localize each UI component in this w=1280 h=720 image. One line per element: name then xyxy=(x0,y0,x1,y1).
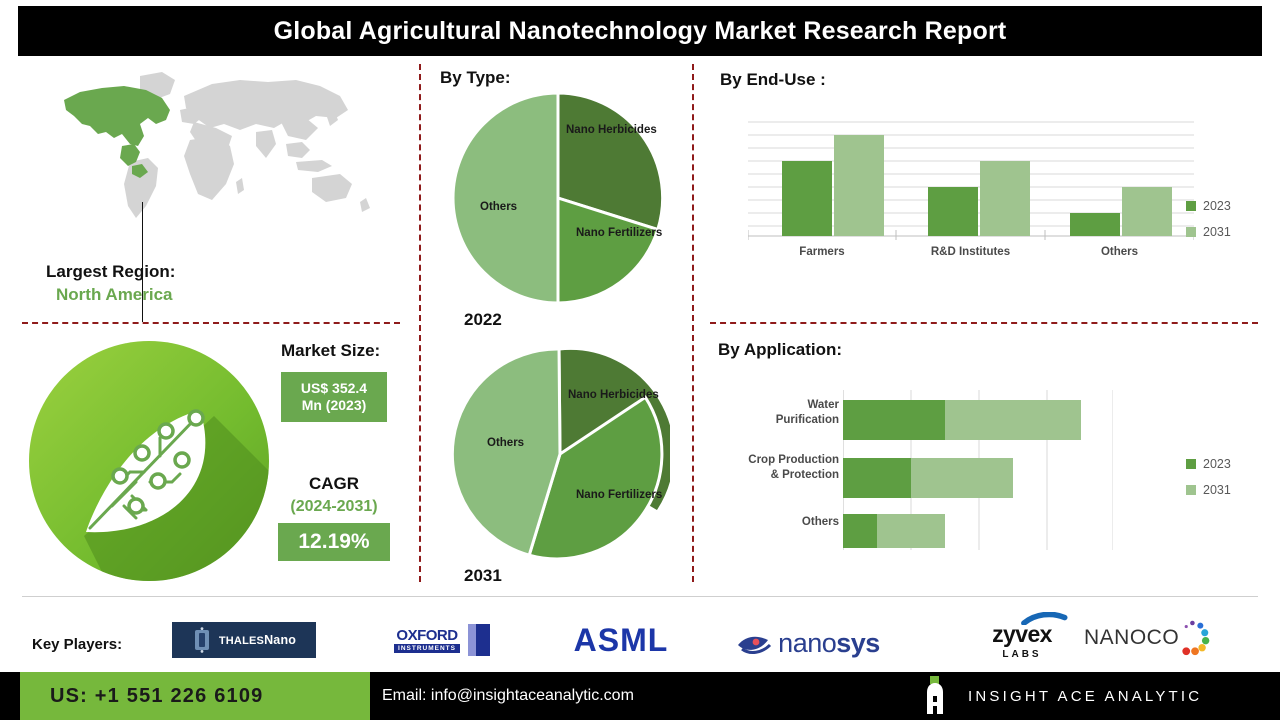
market-size-title: Market Size: xyxy=(281,341,380,361)
legend-swatch-app-2031 xyxy=(1186,485,1196,495)
end-use-bar-chart xyxy=(748,118,1194,240)
logo-oxford-instruments: OXFORD INSTRUMENTS xyxy=(386,624,490,656)
application-cat-crop: Crop Production& Protection xyxy=(713,453,839,483)
legend-label-2023: 2023 xyxy=(1203,199,1231,213)
bar-app-others-2031 xyxy=(877,514,945,548)
cagr-value: 12.19% xyxy=(278,523,390,561)
pie-2031-label-herbicides: Nano Herbicides xyxy=(568,388,659,402)
logo-nanosys: nanosys xyxy=(730,626,886,660)
largest-region-value: North America xyxy=(56,285,173,305)
divider-horizontal-bottom xyxy=(22,596,1258,597)
divider-vertical-right xyxy=(692,64,694,582)
cagr-years: (2024-2031) xyxy=(272,498,396,516)
pie-2022-label-herbicides: Nano Herbicides xyxy=(566,123,657,137)
bar-rd-2031 xyxy=(980,161,1030,236)
legend-label-2031: 2031 xyxy=(1203,225,1231,239)
key-players-label: Key Players: xyxy=(32,636,122,653)
footer-brand: INSIGHT ACE ANALYTIC xyxy=(968,672,1202,720)
bar-app-others-2023 xyxy=(843,514,877,548)
world-map xyxy=(44,66,384,241)
legend-item-2031: 2031 xyxy=(1186,225,1231,239)
bar-crop-2023 xyxy=(843,458,911,498)
nanosys-mark xyxy=(736,631,776,655)
footer-email: Email: info@insightaceanalytic.com xyxy=(382,672,634,720)
cagr-title: CAGR xyxy=(281,474,387,494)
end-use-cat-others: Others xyxy=(1045,245,1194,260)
logo-nanoco: NANOCO xyxy=(1084,616,1212,660)
footer-phone: US: +1 551 226 6109 xyxy=(50,685,264,708)
legend-swatch-2023 xyxy=(1186,201,1196,211)
divider-horizontal-left xyxy=(22,322,400,324)
pie-2031-label-others: Others xyxy=(487,436,524,450)
end-use-legend: 2023 2031 xyxy=(1186,199,1231,251)
pie-2031-label-fertilizers: Nano Fertilizers xyxy=(576,488,662,502)
pie-2022-label-fertilizers: Nano Fertilizers xyxy=(576,226,662,240)
oxford-text-a: OXFORD xyxy=(396,628,457,643)
pie-2022-year: 2022 xyxy=(464,310,502,330)
zyvex-text-b: LABS xyxy=(1002,649,1041,660)
header-bar: Global Agricultural Nanotechnology Marke… xyxy=(18,6,1262,56)
nanoco-dots xyxy=(1173,616,1212,660)
bar-others-2023 xyxy=(1070,213,1120,236)
bar-water-2031 xyxy=(945,400,1081,440)
legend-label-app-2031: 2031 xyxy=(1203,483,1231,497)
logo-thalesnano: THALESNano xyxy=(172,622,316,658)
bar-crop-2031 xyxy=(911,458,1013,498)
section-title-by-application: By Application: xyxy=(718,340,842,360)
largest-region-label: Largest Region: xyxy=(46,262,175,282)
divider-vertical-left xyxy=(419,64,421,582)
legend-item-app-2031: 2031 xyxy=(1186,483,1231,497)
application-bar-chart xyxy=(843,390,1113,550)
infographic-page: Global Agricultural Nanotechnology Marke… xyxy=(0,0,1280,720)
bar-others-2031 xyxy=(1122,187,1172,236)
logo-zyvex-labs: zyvex LABS xyxy=(966,612,1078,660)
nanosys-text-a: nano xyxy=(778,628,836,658)
end-use-cat-rd: R&D Institutes xyxy=(896,245,1045,260)
insight-ace-logo-icon xyxy=(918,676,952,716)
market-size-value: US$ 352.4 Mn (2023) xyxy=(281,372,387,422)
nanoco-text: NANOCO xyxy=(1084,626,1179,650)
legend-item-2023: 2023 xyxy=(1186,199,1231,213)
oxford-text-b: INSTRUMENTS xyxy=(394,644,460,653)
pie-2031-year: 2031 xyxy=(464,566,502,586)
thalesnano-mark xyxy=(192,627,212,653)
bar-water-2023 xyxy=(843,400,945,440)
logo-asml: ASML xyxy=(565,622,677,658)
leaf-circle-icon xyxy=(24,336,279,586)
footer-phone-block: US: +1 551 226 6109 xyxy=(20,672,370,720)
legend-label-app-2023: 2023 xyxy=(1203,457,1231,471)
market-size-line2: Mn (2023) xyxy=(302,397,367,413)
application-cat-others: Others xyxy=(735,515,839,530)
pie-2022-label-others: Others xyxy=(480,200,517,214)
bar-farmers-2031 xyxy=(834,135,884,236)
section-title-by-type: By Type: xyxy=(440,68,511,88)
divider-horizontal-right xyxy=(710,322,1258,324)
legend-swatch-app-2023 xyxy=(1186,459,1196,469)
legend-swatch-2031 xyxy=(1186,227,1196,237)
application-cat-water: WaterPurification xyxy=(735,398,839,428)
end-use-cat-farmers: Farmers xyxy=(748,245,896,260)
pie-slice-others xyxy=(453,93,558,303)
nanosys-text-b: sys xyxy=(836,628,880,658)
thalesnano-text-a: THALES xyxy=(219,635,264,647)
bar-rd-2023 xyxy=(928,187,978,236)
bar-farmers-2023 xyxy=(782,161,832,236)
thalesnano-text-b: Nano xyxy=(264,633,296,647)
pie-chart-2022 xyxy=(448,88,668,308)
legend-item-app-2023: 2023 xyxy=(1186,457,1231,471)
application-legend: 2023 2031 xyxy=(1186,457,1231,509)
market-size-line1: US$ 352.4 xyxy=(301,380,367,396)
zyvex-text-a: zyvex xyxy=(992,621,1052,648)
section-title-by-end-use: By End-Use : xyxy=(720,70,826,90)
page-title: Global Agricultural Nanotechnology Marke… xyxy=(274,17,1007,46)
asml-text: ASML xyxy=(574,622,669,659)
pie-chart-2031 xyxy=(450,344,670,564)
leaf-logo xyxy=(24,336,279,586)
